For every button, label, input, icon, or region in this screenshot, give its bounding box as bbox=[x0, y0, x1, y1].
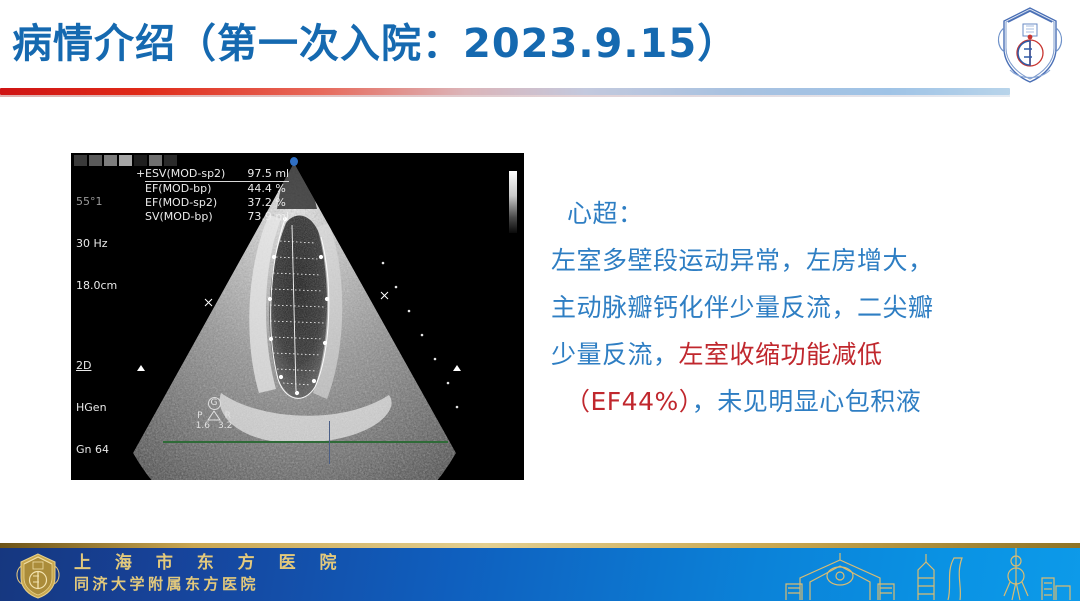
report-line-3-highlight: 左室收缩功能减低 bbox=[679, 340, 883, 369]
ecg-baseline bbox=[163, 441, 448, 443]
report-line-4-suffix: ，未见明显心包积液 bbox=[692, 387, 922, 416]
slide-header: 病情介绍（第一次入院：2023.9.15） bbox=[0, 0, 1080, 96]
page-title: 病情介绍（第一次入院：2023.9.15） bbox=[12, 21, 738, 67]
measure-value: 37.2 % bbox=[247, 196, 289, 210]
slide-root: 病情介绍（第一次入院：2023.9.15） bbox=[0, 0, 1080, 601]
thermal-index-value: 3.2 bbox=[218, 421, 232, 431]
ecg-caliper-line bbox=[329, 421, 330, 464]
report-heading: 心超： bbox=[551, 190, 1021, 237]
selected-measurement-marker: + bbox=[136, 167, 145, 180]
mechanical-index-value: 1.6 bbox=[196, 421, 210, 431]
title-divider-rule bbox=[0, 88, 1010, 95]
table-row: EF(MOD-sp2) 37.2 % bbox=[145, 196, 289, 210]
table-row: SV(MOD-bp) 73.9 ml bbox=[145, 210, 289, 224]
measure-value: 73.9 ml bbox=[247, 210, 289, 224]
report-line-2: 主动脉瓣钙化伴少量反流，二尖瓣 bbox=[551, 284, 1021, 331]
param-gain: Gn 64 bbox=[76, 443, 124, 457]
param-framerate: 30 Hz bbox=[76, 237, 124, 251]
measure-label: EF(MOD-sp2) bbox=[145, 196, 247, 210]
measure-label: EF(MOD-bp) bbox=[145, 182, 247, 197]
bioeffect-left-label: P bbox=[197, 411, 202, 421]
report-line-1: 左室多壁段运动异常，左房增大， bbox=[551, 237, 1021, 284]
grayscale-scale-bar bbox=[509, 171, 517, 233]
title-divider-shadow bbox=[0, 95, 1010, 97]
table-row: ESV(MOD-sp2) 97.5 ml bbox=[145, 167, 289, 182]
hospital-shield-emblem-icon bbox=[994, 4, 1066, 86]
measure-value: 44.4 % bbox=[247, 182, 289, 197]
report-ef-highlight: （EF44%） bbox=[565, 387, 692, 416]
report-line-4: （EF44%），未见明显心包积液 bbox=[551, 378, 1021, 425]
bioeffect-right-label: R bbox=[225, 411, 231, 421]
grayscale-calibration-blocks bbox=[74, 155, 177, 166]
warning-triangle-icon bbox=[207, 410, 221, 421]
echocardiogram-image: 55°1 30 Hz 18.0cm 2D HGen Gn 64 C 50 3/2… bbox=[71, 153, 524, 480]
gain-badge: G bbox=[179, 397, 249, 410]
ultrasound-sector-render bbox=[71, 153, 524, 480]
measure-value: 97.5 ml bbox=[247, 167, 289, 182]
measure-label: SV(MOD-bp) bbox=[145, 210, 247, 224]
hospital-shield-emblem-gold-icon bbox=[14, 551, 62, 599]
hospital-name-line-1: 上 海 市 东 方 医 院 bbox=[74, 552, 346, 574]
measure-label: ESV(MOD-sp2) bbox=[145, 167, 247, 182]
hospital-name: 上 海 市 东 方 医 院 同济大学附属东方医院 bbox=[74, 552, 346, 594]
bioeffect-indicator: G P R 1.6 3.2 bbox=[179, 397, 249, 431]
probe-orientation-marker bbox=[290, 157, 298, 166]
param-depth: 18.0cm bbox=[76, 279, 124, 293]
report-line-3-prefix: 少量反流， bbox=[551, 340, 679, 369]
shanghai-skyline-outline-icon bbox=[660, 548, 1080, 601]
slide-footer: 上 海 市 东 方 医 院 同济大学附属东方医院 bbox=[0, 543, 1080, 601]
report-line-3: 少量反流，左室收缩功能减低 bbox=[551, 331, 1021, 378]
ultrasound-left-parameters: 55°1 30 Hz 18.0cm 2D HGen Gn 64 C 50 3/2… bbox=[76, 167, 124, 480]
param-mode-label: 2D bbox=[76, 359, 124, 373]
echo-report-text: 心超： 左室多壁段运动异常，左房增大， 主动脉瓣钙化伴少量反流，二尖瓣 少量反流… bbox=[551, 190, 1021, 425]
table-row: EF(MOD-bp) 44.4 % bbox=[145, 182, 289, 197]
measurement-table: + ESV(MOD-sp2) 97.5 ml EF(MOD-bp) 44.4 %… bbox=[145, 167, 289, 224]
param-hgen: HGen bbox=[76, 401, 124, 415]
param-angle: 55°1 bbox=[76, 195, 124, 209]
hospital-name-line-2: 同济大学附属东方医院 bbox=[74, 574, 346, 594]
